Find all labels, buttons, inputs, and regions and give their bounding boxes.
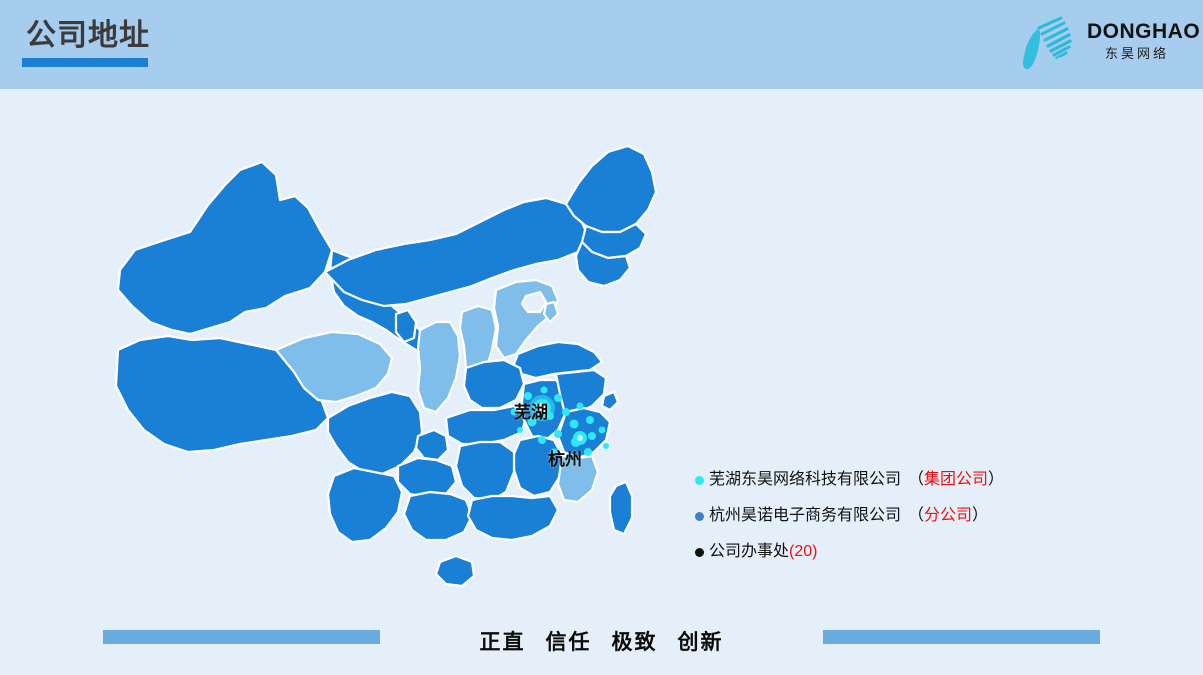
legend-item-group-company[interactable]: 芜湖东昊网络科技有限公司 （集团公司） (695, 462, 1165, 498)
province-yunnan (328, 468, 402, 542)
province-xinjiang (118, 162, 332, 334)
china-map-svg (80, 100, 740, 620)
legend-tag-text: 分公司 (924, 507, 972, 524)
slide-root: 公司地址 (0, 0, 1203, 675)
city-label-hangzhou: 杭州 (548, 445, 582, 470)
page-title: 公司地址 (26, 18, 150, 54)
company-legend: 芜湖东昊网络科技有限公司 （集团公司） 杭州昊诺电子商务有限公司 （分公司） 公… (695, 462, 1165, 570)
city-chongqing (416, 430, 448, 460)
legend-tag-group: （集团公司） (908, 470, 1004, 490)
legend-label: 芜湖东昊网络科技有限公司 (709, 470, 901, 490)
province-ningxia (396, 310, 416, 342)
legend-tag-text: 集团公司 (924, 471, 988, 488)
province-heilongjiang (566, 146, 656, 232)
legend-item-branch-company[interactable]: 杭州昊诺电子商务有限公司 （分公司） (695, 498, 1165, 534)
hangzhou-marker (573, 431, 587, 445)
brand-logo: DONGHAO 东昊网络 (1013, 6, 1189, 78)
china-map[interactable]: 芜湖 杭州 (80, 100, 740, 620)
legend-label: 杭州昊诺电子商务有限公司 (709, 506, 901, 526)
legend-label: 公司办事处 (709, 542, 789, 562)
legend-bullet-blue (695, 512, 704, 521)
slide-header: 公司地址 (0, 0, 1203, 89)
logo-text-block: DONGHAO 东昊网络 (1087, 20, 1187, 63)
paren-close: ） (988, 471, 1004, 488)
slogan-word-1: 正直 (480, 631, 526, 654)
feather-logo-icon (1017, 8, 1089, 74)
legend-bullet-black (695, 548, 704, 557)
title-underline (22, 58, 148, 67)
logo-name: DONGHAO (1087, 20, 1187, 44)
province-shaanxi (418, 322, 460, 412)
legend-tag-branch: （分公司） (908, 506, 988, 526)
city-label-wuhu: 芜湖 (514, 398, 548, 423)
province-taiwan (610, 482, 632, 534)
paren-open: （ (908, 507, 924, 524)
paren-open: （ (908, 471, 924, 488)
legend-office-count: (20) (789, 543, 817, 561)
city-shanghai (602, 392, 618, 410)
legend-bullet-cyan (695, 476, 704, 485)
footer-slogan: 正直信任极致创新 (0, 626, 1203, 656)
slogan-word-3: 极致 (612, 631, 658, 654)
slogan-word-2: 信任 (546, 631, 592, 654)
paren-close: ） (972, 507, 988, 524)
province-guangxi (404, 492, 472, 540)
province-hainan (436, 556, 474, 586)
province-guangdong (468, 496, 558, 540)
legend-item-offices[interactable]: 公司办事处(20) (695, 534, 1165, 570)
slogan-word-4: 创新 (678, 631, 724, 654)
province-hunan (456, 442, 514, 500)
logo-subtitle: 东昊网络 (1087, 45, 1187, 63)
city-beijing (522, 292, 546, 312)
